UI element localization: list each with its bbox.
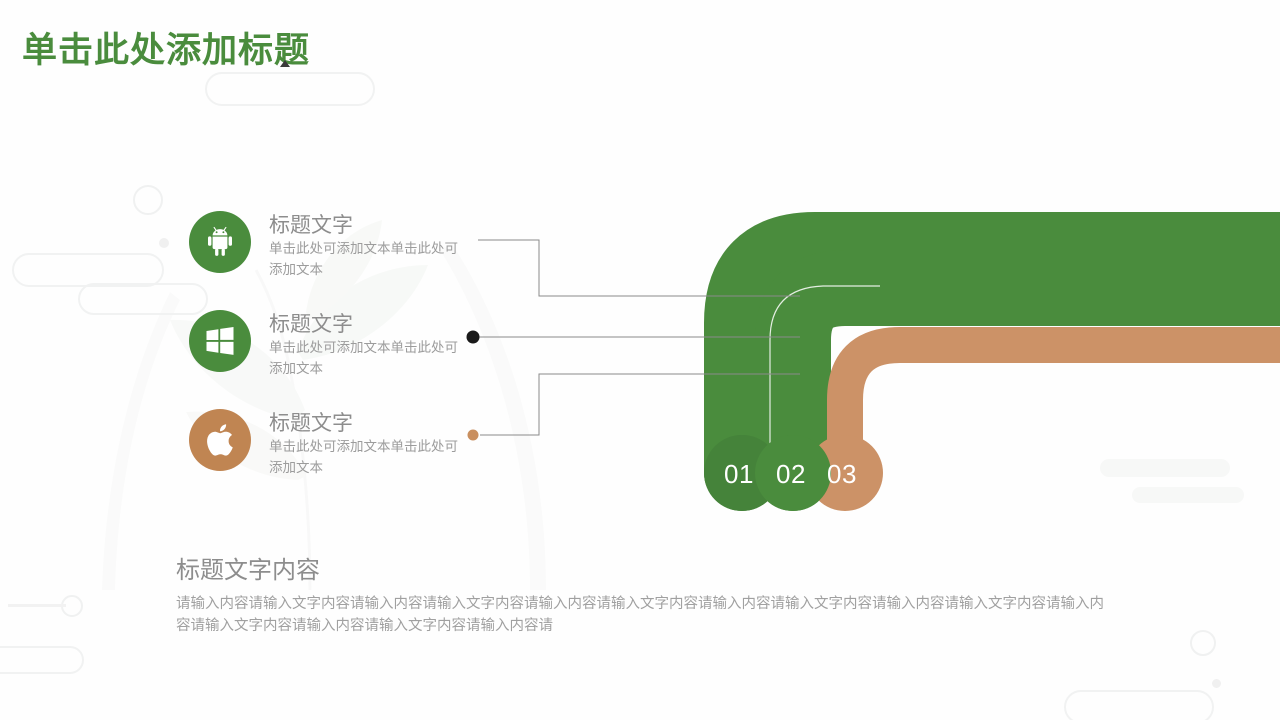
- connector-dot-black: [467, 331, 480, 344]
- windows-icon-circle: [189, 310, 251, 372]
- deco-rounded-rect-left: [12, 253, 164, 287]
- deco-line-bottom-left: [8, 604, 66, 607]
- feature-text-3: 标题文字 单击此处可添加文本单击此处可添加文本: [269, 409, 465, 478]
- feature-desc-2: 单击此处可添加文本单击此处可添加文本: [269, 338, 465, 379]
- pipe-label-01: 01: [724, 459, 754, 490]
- android-icon-circle: [189, 211, 251, 273]
- feature-desc-3: 单击此处可添加文本单击此处可添加文本: [269, 437, 465, 478]
- pipe-label-02: 02: [776, 459, 806, 490]
- page-title: 单击此处添加标题: [22, 22, 310, 73]
- feature-title-3: 标题文字: [269, 411, 465, 437]
- deco-circle-bottom-left: [61, 595, 83, 617]
- feature-title-1: 标题文字: [269, 213, 465, 239]
- deco-rounded-rect-bottom-left: [0, 646, 84, 674]
- deco-circle-upper-left: [133, 185, 163, 215]
- feature-item-2[interactable]: 标题文字 单击此处可添加文本单击此处可添加文本: [189, 310, 465, 379]
- pipe-label-03: 03: [827, 459, 857, 490]
- body-paragraph: 请输入内容请输入文字内容请输入内容请输入文字内容请输入内容请输入文字内容请输入内…: [176, 593, 1106, 638]
- feature-title-2: 标题文字: [269, 312, 465, 338]
- deco-circle-lower-right: [1190, 630, 1216, 656]
- feature-desc-1: 单击此处可添加文本单击此处可添加文本: [269, 239, 465, 280]
- apple-icon-circle: [189, 409, 251, 471]
- deco-blur-top-right: [1080, 455, 1280, 535]
- feature-text-1: 标题文字 单击此处可添加文本单击此处可添加文本: [269, 211, 465, 280]
- slide-canvas: 单击此处添加标题 01 02 03: [0, 0, 1280, 720]
- deco-dot-right: [1212, 679, 1221, 688]
- feature-item-1[interactable]: 标题文字 单击此处可添加文本单击此处可添加文本: [189, 211, 465, 280]
- deco-rounded-rect-top: [205, 72, 375, 106]
- apple-icon: [204, 423, 236, 457]
- body-heading: 标题文字内容: [176, 550, 320, 585]
- windows-icon: [205, 326, 235, 356]
- android-icon: [203, 225, 237, 259]
- title-caret-icon: [280, 60, 290, 67]
- feature-text-2: 标题文字 单击此处可添加文本单击此处可添加文本: [269, 310, 465, 379]
- deco-dot-left: [159, 238, 169, 248]
- connector-dot-orange: [468, 430, 479, 441]
- deco-rounded-rect-bottom-right: [1064, 690, 1214, 720]
- feature-item-3[interactable]: 标题文字 单击此处可添加文本单击此处可添加文本: [189, 409, 465, 478]
